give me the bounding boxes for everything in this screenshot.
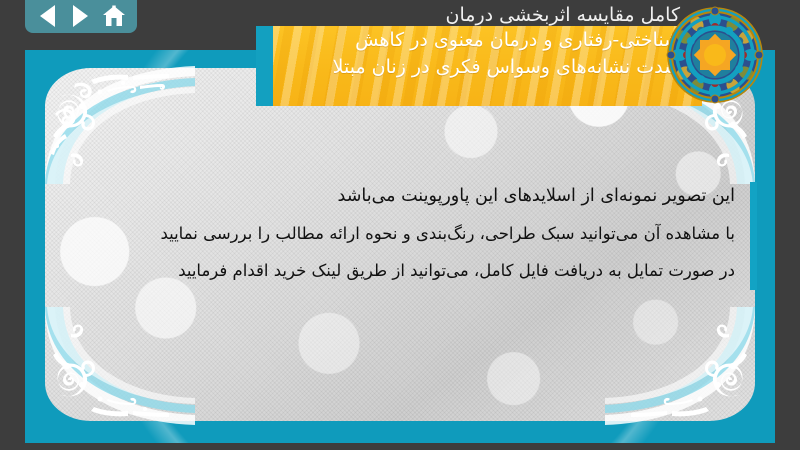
slide-body-text: این تصویر نمونه‌ای از اسلایدهای این پاور… (65, 178, 735, 289)
home-button[interactable] (101, 4, 127, 28)
triangle-left-icon (40, 5, 55, 27)
title-line-2: شناختی-رفتاری و درمان معنوی در کاهش (355, 27, 680, 54)
navigation-bar (25, 0, 137, 33)
body-line-3: در صورت تمایل به دریافت فایل کامل، می‌تو… (65, 252, 735, 289)
home-icon (102, 5, 126, 27)
islamic-mandala-medallion-icon (663, 3, 767, 107)
body-text-accent-bar (750, 182, 757, 290)
back-button[interactable] (35, 4, 61, 28)
title-line-3: شدت نشانه‌های وسواس فکری در زنان مبتلا (333, 54, 680, 81)
title-banner: کامل مقایسه اثربخشی درمان شناختی-رفتاری … (272, 26, 702, 106)
triangle-right-icon (73, 5, 88, 27)
title-banner-tab (256, 26, 273, 106)
slide-frame: این تصویر نمونه‌ای از اسلایدهای این پاور… (25, 50, 775, 443)
body-line-1: این تصویر نمونه‌ای از اسلایدهای این پاور… (65, 178, 735, 215)
body-line-2: با مشاهده آن می‌توانید سبک طراحی، رنگ‌بن… (65, 215, 735, 252)
title-line-1: کامل مقایسه اثربخشی درمان (446, 2, 680, 29)
forward-button[interactable] (68, 4, 94, 28)
